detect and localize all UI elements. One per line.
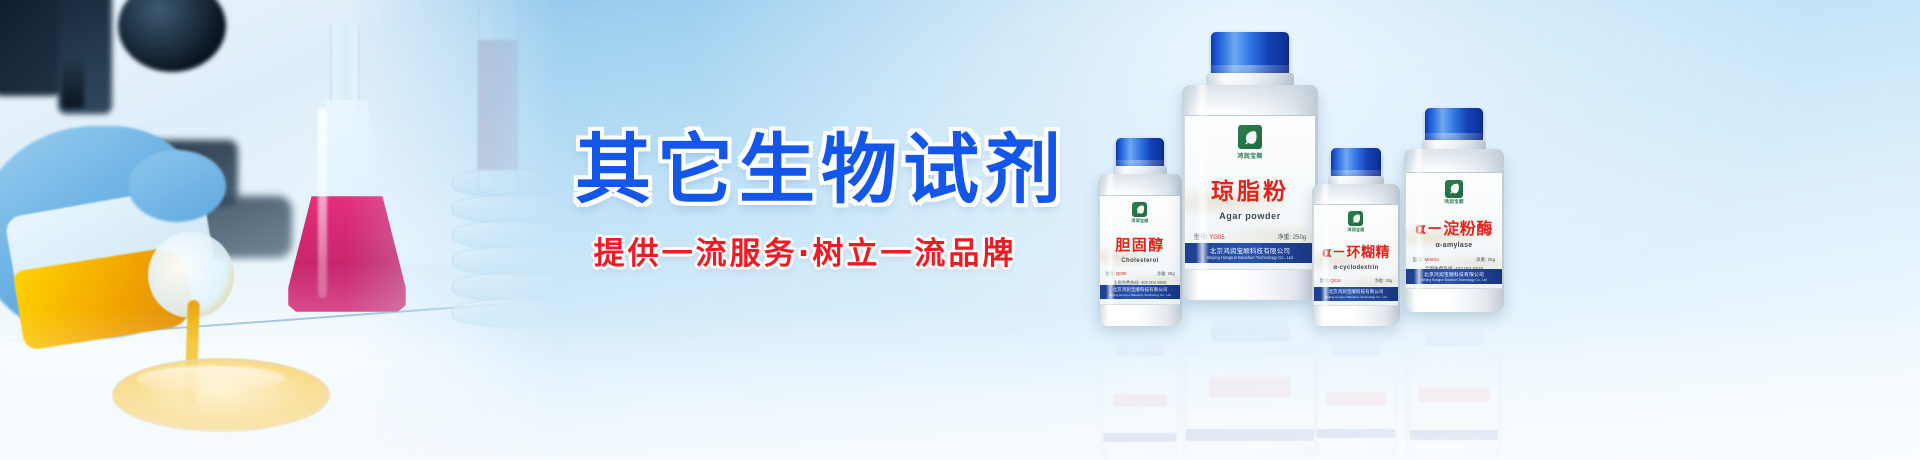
company-band: 北京鸿润宝顺科技有限公司 Beijing Hongrun Baoshun Tec… — [1185, 243, 1316, 263]
product-name-en: α-cyclodextrin — [1333, 265, 1378, 271]
bottle-cap-blue — [1425, 108, 1483, 142]
bottle-shoulder — [1404, 149, 1504, 172]
brand-logo: 鸿润宝顺 — [1347, 211, 1364, 233]
glove-thumb — [128, 150, 226, 222]
product-name-en: Cholesterol — [1121, 258, 1158, 264]
model-field: 型号: Q016 — [1320, 278, 1341, 284]
microscope-objective-icon — [118, 0, 226, 72]
flask-neck — [330, 24, 360, 110]
product-label: 鸿润宝顺 α－环糊精 α-cyclodextrin 型号: Q016 净重: 2… — [1314, 204, 1399, 306]
banner-text-block: 其它生物试剂 提供一流服务·树立一流品牌 — [575, 132, 1035, 273]
reflection-alpha-amylase — [1404, 312, 1504, 460]
brand-name-cn: 鸿润宝顺 — [1237, 151, 1263, 160]
product-name-cn: 琼脂粉 — [1211, 172, 1289, 206]
brand-logo: 鸿润宝顺 — [1131, 202, 1148, 224]
brand-name-cn: 鸿润宝顺 — [1347, 227, 1364, 233]
product-bottle-cholesterol[interactable]: 鸿润宝顺 胆固醇 Cholesterol 型号: Q006 净重: 25g 全国… — [1098, 138, 1182, 326]
brand-logo: 鸿润宝顺 — [1444, 180, 1464, 205]
weight-field: 净重: 25g — [1157, 271, 1175, 277]
bottle-body: 鸿润宝顺 胆固醇 Cholesterol 型号: Q006 净重: 25g 全国… — [1098, 174, 1182, 326]
bottle-shoulder — [1098, 174, 1182, 195]
product-label: 鸿润宝顺 琼脂粉 Agar powder 型号: YG05 净重: 250g 全… — [1185, 115, 1316, 270]
model-field: 型号: YG05 — [1194, 232, 1225, 241]
petri-dish-highlight — [136, 366, 286, 392]
model-field: 型号: Q006 — [1105, 271, 1126, 277]
weight-field: 净重: 25g — [1476, 257, 1495, 263]
product-label: 鸿润宝顺 胆固醇 Cholesterol 型号: Q006 净重: 25g 全国… — [1100, 195, 1181, 304]
company-name-en: Beijing Hongrun Baoshun Technology Co., … — [1406, 278, 1502, 282]
product-name-cn: α－环糊精 — [1322, 242, 1390, 262]
product-name-cn: α－淀粉酶 — [1415, 215, 1493, 239]
brand-logo: 鸿润宝顺 — [1237, 125, 1263, 160]
reflection-agar-powder — [1182, 300, 1318, 460]
promo-banner: 其它生物试剂 提供一流服务·树立一流品牌 鸿润宝顺 胆固醇 Cholestero… — [0, 0, 1920, 460]
flask-highlight — [318, 108, 327, 298]
product-meta-row: 型号: YG05 净重: 250g — [1194, 232, 1306, 241]
banner-headline: 其它生物试剂 — [575, 132, 1035, 208]
product-label: 鸿润宝顺 α－淀粉酶 α-amylase 型号: M004A 净重: 25g 全… — [1406, 172, 1502, 289]
company-name-cn: 北京鸿润宝顺科技有限公司 — [1406, 271, 1502, 278]
product-meta-row: 型号: Q016 净重: 25g — [1320, 278, 1393, 284]
product-name-en: Agar powder — [1219, 211, 1281, 221]
product-meta-row: 型号: M004A 净重: 25g — [1413, 257, 1496, 263]
weight-field: 净重: 250g — [1277, 232, 1306, 241]
company-band: 北京鸿润宝顺科技有限公司 Beijing Hongrun Baoshun Tec… — [1314, 287, 1399, 301]
banner-subline: 提供一流服务·树立一流品牌 — [575, 228, 1035, 273]
company-name-cn: 北京鸿润宝顺科技有限公司 — [1185, 246, 1316, 255]
model-field: 型号: M004A — [1413, 257, 1439, 263]
company-name-en: Beijing Hongrun Baoshun Technology Co., … — [1314, 295, 1399, 299]
cylinder-liquid — [478, 40, 518, 170]
brand-name-cn: 鸿润宝顺 — [1444, 199, 1464, 205]
company-band: 北京鸿润宝顺科技有限公司 Beijing Hongrun Baoshun Tec… — [1406, 269, 1502, 284]
bottle-body: 鸿润宝顺 琼脂粉 Agar powder 型号: YG05 净重: 250g 全… — [1182, 85, 1318, 300]
lab-photo — [0, 0, 560, 460]
logo-leaf-icon — [1132, 202, 1147, 217]
product-name-cn: 胆固醇 — [1115, 234, 1165, 255]
product-name-en: α-amylase — [1436, 242, 1473, 249]
company-name-en: Beijing Hongrun Baoshun Technology Co., … — [1100, 293, 1181, 297]
bottle-shoulder — [1182, 85, 1318, 115]
product-meta-row: 型号: Q006 净重: 25g — [1105, 271, 1174, 277]
bottle-cap-blue — [1331, 148, 1381, 178]
bottle-cap-blue — [1211, 32, 1289, 76]
bottle-body: 鸿润宝顺 α－淀粉酶 α-amylase 型号: M004A 净重: 25g 全… — [1404, 149, 1504, 312]
reflection-cholesterol — [1098, 326, 1182, 460]
bottle-shoulder — [1312, 184, 1400, 204]
product-bottle-agar-powder[interactable]: 鸿润宝顺 琼脂粉 Agar powder 型号: YG05 净重: 250g 全… — [1182, 32, 1318, 300]
product-bottle-alpha-cyclodextrin[interactable]: 鸿润宝顺 α－环糊精 α-cyclodextrin 型号: Q016 净重: 2… — [1312, 148, 1400, 326]
logo-leaf-icon — [1445, 180, 1463, 198]
microscope-stage-icon — [62, 60, 84, 108]
bottle-cap-blue — [1116, 138, 1164, 168]
company-band: 北京鸿润宝顺科技有限公司 Beijing Hongrun Baoshun Tec… — [1100, 285, 1181, 299]
petri-dish-stack — [452, 168, 560, 358]
weight-field: 净重: 25g — [1375, 278, 1393, 284]
logo-leaf-icon — [1238, 125, 1262, 149]
bottle-body: 鸿润宝顺 α－环糊精 α-cyclodextrin 型号: Q016 净重: 2… — [1312, 184, 1400, 326]
product-bottle-alpha-amylase[interactable]: 鸿润宝顺 α－淀粉酶 α-amylase 型号: M004A 净重: 25g 全… — [1404, 108, 1504, 312]
logo-leaf-icon — [1348, 211, 1363, 226]
company-name-en: Beijing Hongrun Baoshun Technology Co., … — [1185, 255, 1316, 260]
brand-name-cn: 鸿润宝顺 — [1131, 218, 1148, 224]
reflection-alpha-cyclodextrin — [1312, 326, 1400, 456]
